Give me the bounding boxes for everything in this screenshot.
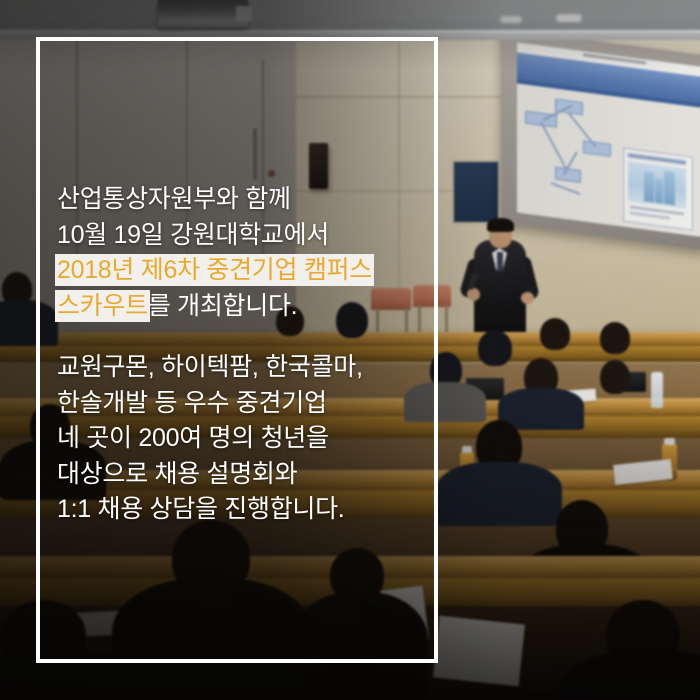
body-line-1: 교원구몬, 하이텍팜, 한국콜마,	[57, 350, 417, 386]
headline-line-4-rest: 를 개최합니다.	[148, 292, 298, 320]
paragraph-2: 교원구몬, 하이텍팜, 한국콜마, 한솔개발 등 우수 중견기업 네 곳이 20…	[57, 350, 417, 528]
body-line-2: 한솔개발 등 우수 중견기업	[57, 386, 417, 422]
foreground-shoulders	[292, 592, 428, 700]
chair	[413, 285, 451, 307]
audience-shoulders	[0, 300, 58, 346]
audience-head	[540, 318, 570, 350]
diagram-connector	[551, 182, 580, 194]
headline-line-1: 산업통상자원부와 함께	[57, 182, 417, 218]
body-line-5: 1:1 채용 상담을 진행합니다.	[57, 492, 417, 528]
building-shape	[655, 178, 663, 204]
building-shape	[644, 171, 654, 202]
presenter-hand	[521, 292, 534, 304]
paragraph-spacer	[57, 324, 417, 350]
paper-sheet	[433, 616, 525, 687]
ceiling-light	[500, 16, 522, 23]
headline-line-2: 10월 19일 강원대학교에서	[57, 218, 417, 254]
water-bottle	[651, 372, 663, 408]
building-shape	[664, 171, 675, 205]
projector-lens-icon	[236, 6, 252, 21]
ceiling-light	[556, 14, 582, 22]
headline-line-4: 스카우트를 개최합니다.	[57, 289, 417, 325]
audience-head	[600, 322, 630, 354]
body-line-3: 네 곳이 200여 명의 청년을	[57, 421, 417, 457]
diagram-connector	[540, 121, 567, 170]
highlight-text-1: 2018년 제6차 중견기업 캠퍼스	[57, 256, 372, 284]
ceiling-edge	[0, 30, 700, 33]
notice-board	[452, 160, 500, 224]
headline-line-3: 2018년 제6차 중견기업 캠퍼스	[57, 253, 417, 289]
projection-screen	[501, 28, 700, 250]
audience-head	[600, 360, 630, 394]
text-block: 산업통상자원부와 함께 10월 19일 강원대학교에서 2018년 제6차 중견…	[57, 182, 417, 528]
body-line-4: 대상으로 채용 설명회와	[57, 457, 417, 493]
presentation-slide	[517, 43, 700, 237]
inset-card-image	[628, 161, 686, 209]
presenter-tie	[497, 252, 503, 271]
paragraph-1: 산업통상자원부와 함께 10월 19일 강원대학교에서 2018년 제6차 중견…	[57, 182, 417, 324]
door-handle	[253, 128, 257, 180]
ceiling	[0, 0, 700, 40]
bottle-cap	[462, 446, 472, 453]
slide-inset-card	[623, 148, 693, 231]
diagram-node	[583, 140, 611, 157]
presenter-hand	[467, 288, 480, 301]
slide-body	[517, 84, 700, 237]
chair-leg	[445, 305, 448, 333]
wall-knob	[268, 170, 275, 177]
chair-leg	[418, 305, 421, 333]
highlight-text-2: 스카우트	[57, 292, 148, 320]
promo-card: 산업통상자원부와 함께 10월 19일 강원대학교에서 2018년 제6차 중견…	[0, 0, 700, 700]
ceiling-projector-icon	[158, 0, 248, 28]
bottle-cap	[664, 438, 675, 445]
audience-head	[478, 330, 512, 366]
presenter-hair	[487, 218, 514, 232]
audience-shoulders	[436, 462, 562, 526]
